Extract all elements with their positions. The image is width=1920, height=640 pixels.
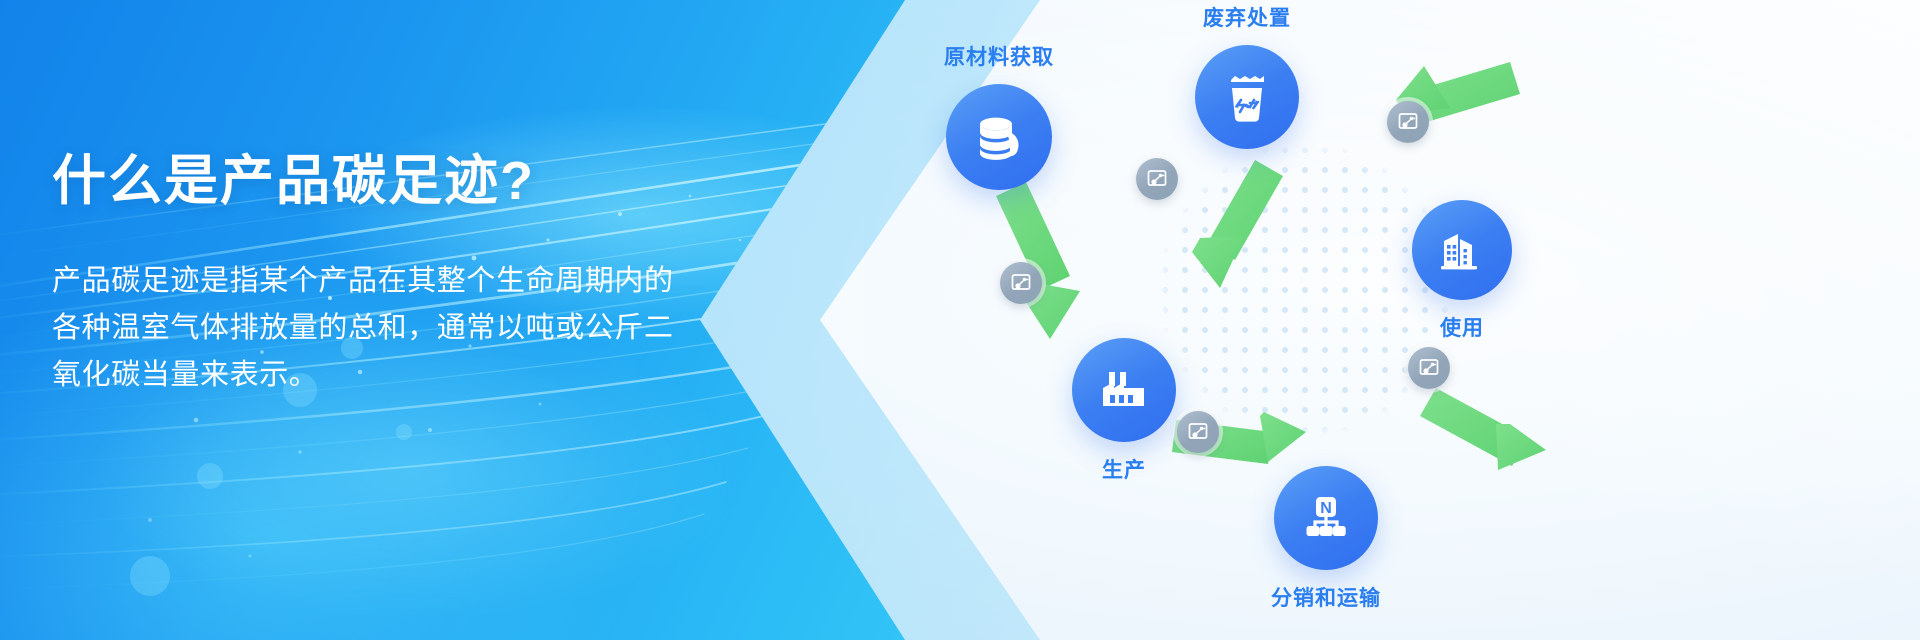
node-bubble[interactable] xyxy=(1195,45,1299,149)
node-label: 废弃处置 xyxy=(1117,2,1377,32)
recycle-bin-icon xyxy=(1220,70,1274,124)
data-flow-icon xyxy=(1010,272,1032,294)
connector-badge[interactable] xyxy=(1408,347,1450,389)
node-bubble[interactable] xyxy=(946,84,1052,190)
connector-badge[interactable] xyxy=(1387,101,1429,143)
data-flow-icon xyxy=(1418,357,1440,379)
data-flow-icon xyxy=(1397,111,1419,133)
factory-icon xyxy=(1096,362,1152,418)
hero-description-line: 产品碳足迹是指某个产品在其整个生命周期内的 xyxy=(52,258,752,305)
lifecycle-node-use[interactable]: 使用 xyxy=(1412,200,1512,300)
node-bubble[interactable]: N xyxy=(1274,466,1378,570)
hero-banner: 什么是产品碳足迹? 产品碳足迹是指某个产品在其整个生命周期内的 各种温室气体排放… xyxy=(0,0,1920,640)
node-label: 分销和运输 xyxy=(1196,582,1456,612)
node-label: 使用 xyxy=(1332,312,1592,342)
node-label: 原材料获取 xyxy=(869,41,1129,71)
node-label: 生产 xyxy=(994,454,1254,484)
lifecycle-diagram: 原材料获取 xyxy=(900,0,1920,640)
connector-badge[interactable] xyxy=(1000,262,1042,304)
lifecycle-node-production[interactable]: 生产 xyxy=(1072,338,1176,442)
page-title: 什么是产品碳足迹? xyxy=(52,150,772,214)
connector-badge[interactable] xyxy=(1136,158,1178,200)
svg-text:N: N xyxy=(1320,500,1332,517)
connector-badge[interactable] xyxy=(1177,411,1219,453)
hero-description: 产品碳足迹是指某个产品在其整个生命周期内的 各种温室气体排放量的总和，通常以吨或… xyxy=(52,258,752,399)
data-flow-icon xyxy=(1187,421,1209,443)
buildings-icon xyxy=(1435,223,1489,277)
hero-description-line: 氧化碳当量来表示。 xyxy=(52,352,752,399)
lifecycle-node-raw-material[interactable]: 原材料获取 xyxy=(946,84,1052,190)
node-bubble[interactable] xyxy=(1072,338,1176,442)
hero-copy-block: 什么是产品碳足迹? 产品碳足迹是指某个产品在其整个生命周期内的 各种温室气体排放… xyxy=(52,150,772,399)
lifecycle-node-waste-disposal[interactable]: 废弃处置 xyxy=(1195,45,1299,149)
node-bubble[interactable] xyxy=(1412,200,1512,300)
hero-description-line: 各种温室气体排放量的总和，通常以吨或公斤二 xyxy=(52,305,752,352)
lifecycle-node-distribution[interactable]: N 分销和运输 xyxy=(1274,466,1378,570)
data-flow-icon xyxy=(1146,168,1168,190)
database-leaf-icon xyxy=(971,109,1027,165)
distribution-node-icon: N xyxy=(1299,491,1353,545)
